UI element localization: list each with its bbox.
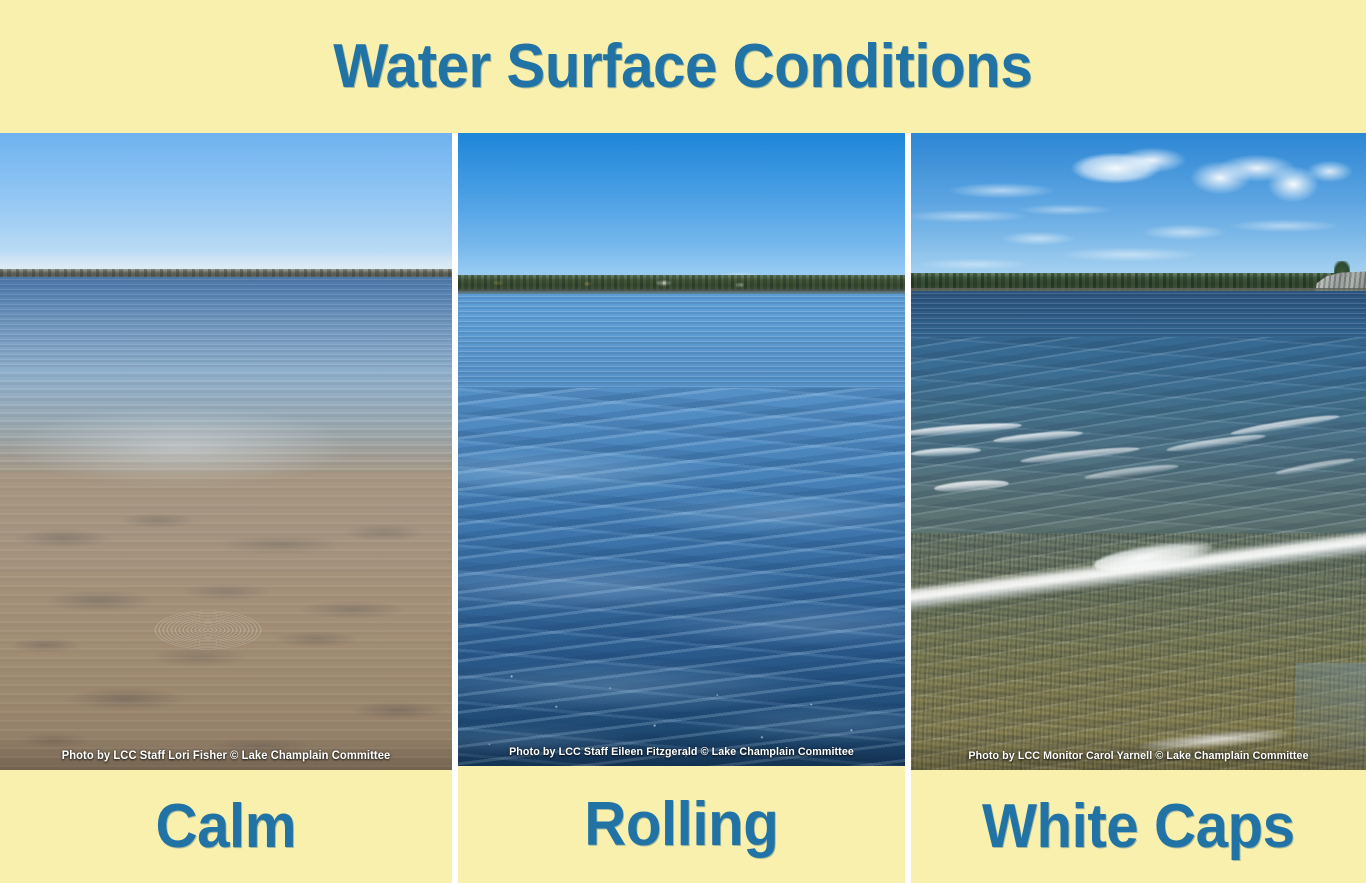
far-water-layer [0,277,452,373]
far-water-layer [458,294,905,394]
photo-credit-rolling: Photo by LCC Staff Eileen Fitzgerald © L… [465,746,899,758]
panel-white-caps: Photo by LCC Monitor Carol Yarnell © Lak… [911,133,1366,883]
far-water-layer [911,291,1366,341]
photo-rolling: Photo by LCC Staff Eileen Fitzgerald © L… [458,133,905,766]
title-bar: Water Surface Conditions [0,0,1366,133]
photo-credit-calm: Photo by LCC Staff Lori Fisher © Lake Ch… [7,750,445,762]
caption-white-caps: White Caps [911,770,1366,883]
caption-calm: Calm [0,770,452,883]
caption-label-calm: Calm [156,796,297,858]
photo-white-caps: Photo by LCC Monitor Carol Yarnell © Lak… [911,133,1366,770]
photo-calm: Photo by LCC Staff Lori Fisher © Lake Ch… [0,133,452,770]
water-surface-conditions-infographic: Water Surface Conditions Photo by LCC St… [0,0,1366,883]
water-glare-layer [0,369,452,499]
caption-rolling: Rolling [458,766,905,883]
ripple-ring [153,610,263,650]
caption-label-white-caps: White Caps [982,796,1295,858]
photo-credit-white-caps: Photo by LCC Monitor Carol Yarnell © Lak… [918,750,1359,762]
caption-label-rolling: Rolling [584,794,778,856]
panel-calm: Photo by LCC Staff Lori Fisher © Lake Ch… [0,133,452,883]
panel-row: Photo by LCC Staff Lori Fisher © Lake Ch… [0,133,1366,883]
page-title: Water Surface Conditions [334,36,1033,98]
panel-rolling: Photo by LCC Staff Eileen Fitzgerald © L… [458,133,905,883]
